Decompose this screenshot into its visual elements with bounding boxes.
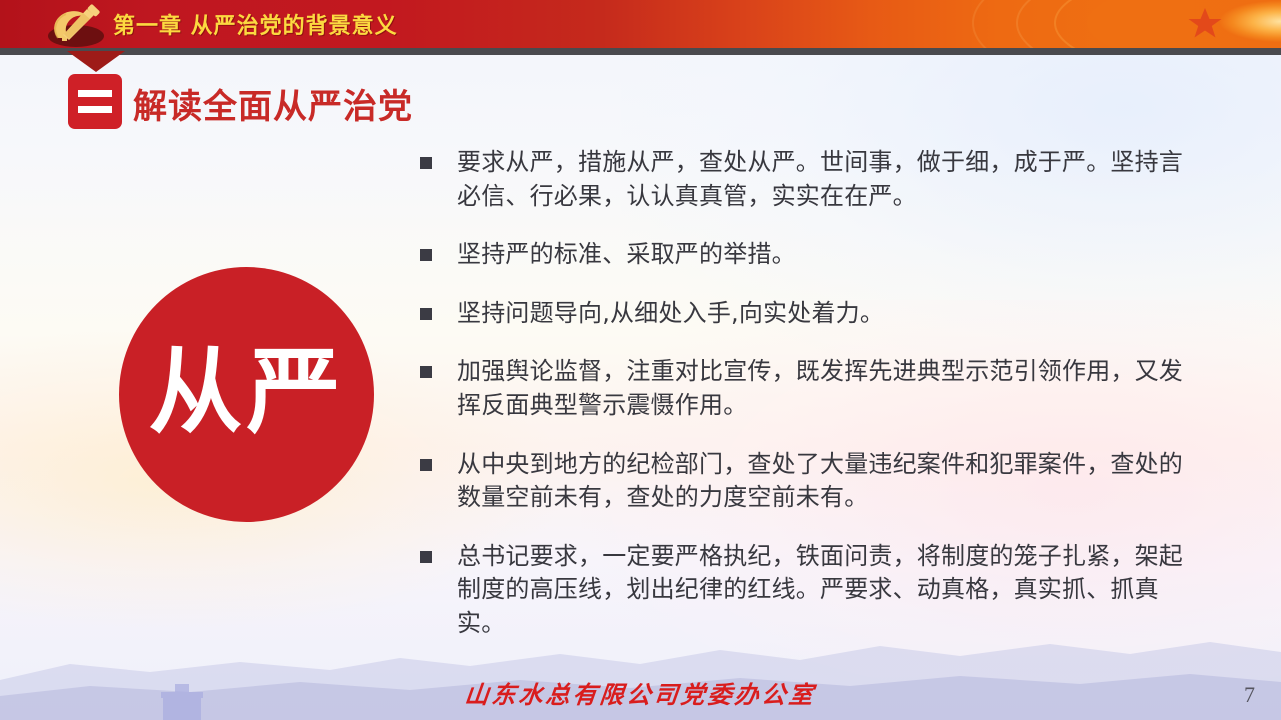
list-item: 从中央到地方的纪检部门，查处了大量违纪案件和犯罪案件，查处的数量空前未有，查处的… — [420, 448, 1205, 515]
square-bullet-icon — [420, 308, 432, 320]
list-item: 加强舆论监督，注重对比宣传，既发挥先进典型示范引领作用，又发挥反面典型警示震慑作… — [420, 355, 1205, 422]
star-burst-icon — [861, 0, 1281, 48]
chevron-down-icon — [67, 51, 125, 72]
list-item: 总书记要求，一定要严格执纪，铁面问责，将制度的笼子扎紧，架起制度的高压线，划出纪… — [420, 540, 1205, 641]
badge-stroke-top — [78, 90, 112, 97]
square-bullet-icon — [420, 551, 432, 563]
list-item-text: 加强舆论监督，注重对比宣传，既发挥先进典型示范引领作用，又发挥反面典型警示震慑作… — [457, 355, 1205, 422]
hammer-and-sickle-icon — [38, 2, 114, 48]
list-item-text: 要求从严，措施从严，查处从严。世间事，做于细，成于严。坚持言必信、行必果，认认真… — [457, 146, 1205, 213]
slide-root: 第一章 从严治党的背景意义 解读全面从严治党 从严 要求从严，措施从严，查处从严… — [0, 0, 1281, 720]
square-bullet-icon — [420, 366, 432, 378]
list-item: 坚持问题导向,从细处入手,向实处着力。 — [420, 297, 1205, 331]
header-divider — [0, 48, 1281, 55]
list-item: 坚持严的标准、采取严的举措。 — [420, 238, 1205, 272]
list-item: 要求从严，措施从严，查处从严。世间事，做于细，成于严。坚持言必信、行必果，认认真… — [420, 146, 1205, 213]
list-item-text: 总书记要求，一定要严格执纪，铁面问责，将制度的笼子扎紧，架起制度的高压线，划出纪… — [457, 540, 1205, 641]
chapter-header-bar: 第一章 从严治党的背景意义 — [0, 0, 1281, 48]
list-item-text: 从中央到地方的纪检部门，查处了大量违纪案件和犯罪案件，查处的数量空前未有，查处的… — [457, 448, 1205, 515]
content-bullet-list: 要求从严，措施从严，查处从严。世间事，做于细，成于严。坚持言必信、行必果，认认真… — [420, 146, 1205, 641]
section-number-badge — [68, 74, 122, 129]
congyan-emblem-label: 从严 — [148, 346, 344, 440]
square-bullet-icon — [420, 459, 432, 471]
list-item-text: 坚持严的标准、采取严的举措。 — [457, 238, 1205, 272]
chapter-title: 第一章 从严治党的背景意义 — [113, 8, 398, 40]
footer-organization: 山东水总有限公司党委办公室 — [0, 675, 1281, 710]
page-number: 7 — [1244, 682, 1255, 708]
square-bullet-icon — [420, 157, 432, 169]
list-item-text: 坚持问题导向,从细处入手,向实处着力。 — [457, 297, 1205, 331]
badge-stroke-bottom — [78, 106, 112, 113]
square-bullet-icon — [420, 249, 432, 261]
section-title: 解读全面从严治党 — [133, 79, 413, 128]
congyan-emblem: 从严 — [119, 267, 374, 522]
